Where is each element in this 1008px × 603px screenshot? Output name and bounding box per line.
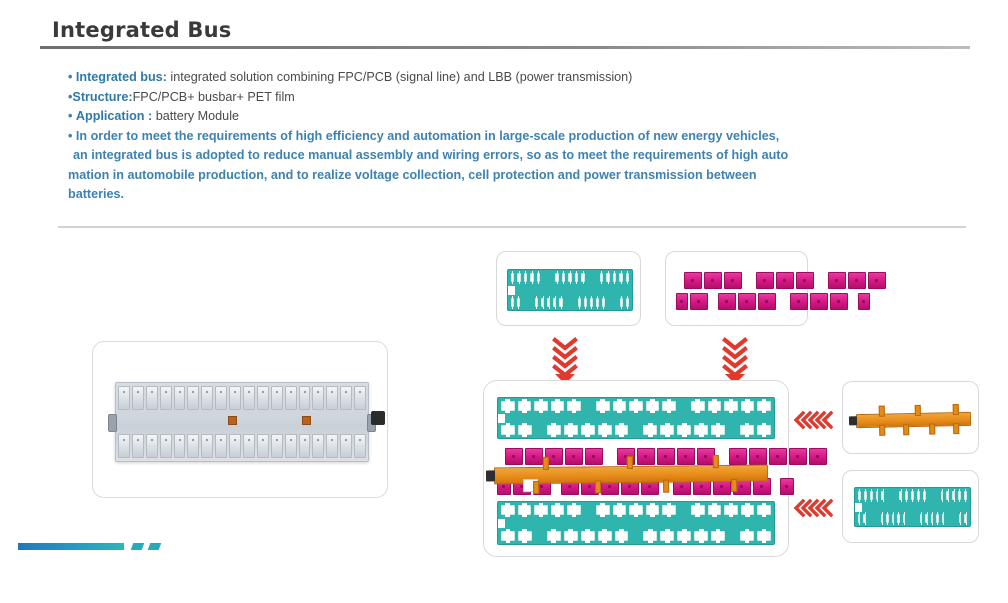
rail-post	[627, 456, 633, 469]
page-title: Integrated Bus	[52, 18, 964, 42]
fpc-tab-row-top	[858, 491, 967, 500]
photo-cell	[285, 386, 297, 410]
busbar-row-top	[505, 448, 827, 465]
photo-cell	[257, 434, 269, 458]
photo-cell	[354, 434, 366, 458]
bullet-marker-icon: •	[68, 109, 72, 123]
source-fpc-card	[496, 251, 641, 326]
paragraph-line-2: an integrated bus is adopted to reduce m…	[68, 146, 976, 166]
bullet-text-integrated-bus: integrated solution combining FPC/PCB (s…	[170, 70, 632, 84]
photo-cell	[285, 434, 297, 458]
photo-cell	[257, 386, 269, 410]
integrated-bus-photo-card	[92, 341, 388, 498]
arrow-left-rail	[793, 410, 835, 430]
bullet-marker-icon: •	[68, 70, 72, 84]
photo-connector	[371, 411, 385, 425]
assembly-orange-rail	[494, 465, 768, 485]
source-busbar-card	[665, 251, 808, 326]
fpc-tab-row-top	[501, 505, 771, 515]
chevron-down-icon	[552, 336, 578, 384]
footer-decoration	[18, 541, 163, 553]
fpc-tab-row-bottom	[511, 298, 629, 307]
busbar-row-bottom	[676, 293, 870, 310]
rail-post	[903, 424, 909, 435]
paragraph-line-4: batteries.	[68, 185, 976, 205]
rail-component	[856, 412, 971, 428]
rail-end-cap	[849, 416, 857, 425]
bullet-item-application: • Application : battery Module	[68, 107, 968, 127]
bullet-item-structure: •Structure:FPC/PCB+ busbar+ PET film	[68, 88, 968, 108]
title-underline-rule	[40, 46, 970, 49]
photo-end-tab-left	[108, 414, 117, 432]
decor-dash-1	[131, 543, 145, 550]
photo-cell	[354, 386, 366, 410]
photo-cell	[215, 434, 227, 458]
photo-cell	[312, 434, 324, 458]
photo-cell	[229, 434, 241, 458]
fpc-notch	[498, 414, 505, 423]
fpc-notch	[498, 519, 505, 528]
rail-post	[915, 405, 921, 416]
rail-end-cap	[486, 470, 495, 481]
photo-cell	[271, 386, 283, 410]
photo-cell	[215, 386, 227, 410]
rail-post	[879, 425, 885, 436]
bullet-text-structure: FPC/PCB+ busbar+ PET film	[133, 90, 295, 104]
photo-cell	[160, 434, 172, 458]
assembly-fpc-top	[497, 397, 775, 439]
fpc-notch	[508, 286, 515, 295]
photo-cell	[229, 386, 241, 410]
title-block: Integrated Bus	[52, 18, 964, 42]
paragraph-line-1: • In order to meet the requirements of h…	[68, 127, 976, 147]
arrow-down-busbar	[722, 336, 748, 384]
photo-cell	[243, 434, 255, 458]
rail-card	[842, 381, 979, 454]
integrated-bus-product-photo	[115, 382, 369, 462]
rail-post	[879, 406, 885, 417]
chevron-left-icon	[793, 498, 835, 518]
photo-cell	[146, 386, 158, 410]
bullet-label-structure: Structure:	[72, 90, 132, 104]
photo-cell	[187, 434, 199, 458]
bullet-list: • Integrated bus: integrated solution co…	[68, 68, 968, 205]
photo-cell	[187, 386, 199, 410]
assembly-fpc-bottom	[497, 501, 775, 545]
photo-copper-pad	[228, 416, 237, 425]
photo-copper-pad	[302, 416, 311, 425]
photo-cell	[299, 434, 311, 458]
photo-cell	[312, 386, 324, 410]
photo-cell	[174, 434, 186, 458]
rail-post	[533, 481, 539, 494]
arrow-left-fpc	[793, 498, 835, 518]
photo-cell-row-bottom	[118, 434, 366, 458]
photo-cell	[146, 434, 158, 458]
bullet-label-integrated-bus: Integrated bus:	[76, 70, 167, 84]
arrow-down-fpc	[552, 336, 578, 384]
photo-cell	[340, 386, 352, 410]
photo-cell	[299, 386, 311, 410]
photo-cell	[174, 386, 186, 410]
photo-cell	[326, 386, 338, 410]
rail-post	[929, 424, 935, 435]
fpc-tab-row-top	[511, 273, 629, 282]
fpc-component	[854, 487, 971, 527]
fpc-tab-row-bottom	[501, 531, 771, 541]
photo-cell	[326, 434, 338, 458]
rail-post	[731, 479, 737, 492]
paragraph-line-3: mation in automobile production, and to …	[68, 166, 976, 186]
rail-post	[663, 480, 669, 493]
photo-cell	[160, 386, 172, 410]
fpc-strip	[507, 269, 633, 311]
photo-cell	[271, 434, 283, 458]
photo-cell	[340, 434, 352, 458]
bullet-label-application: Application :	[76, 109, 152, 123]
photo-cell	[118, 434, 130, 458]
assembly-card	[483, 380, 789, 557]
fpc-tab-row-bottom	[858, 514, 967, 523]
chevron-left-icon	[793, 410, 835, 430]
photo-cell	[201, 386, 213, 410]
fpc-card	[842, 470, 979, 543]
decor-dash-2	[148, 543, 162, 550]
fpc-tab-row-top	[501, 401, 771, 411]
photo-cell	[118, 386, 130, 410]
photo-cell	[132, 434, 144, 458]
fpc-tab-row-bottom	[501, 425, 771, 435]
photo-cell-row-top	[118, 386, 366, 410]
rail-post	[713, 455, 719, 468]
photo-cell	[201, 434, 213, 458]
photo-cell	[243, 386, 255, 410]
content-divider-rule	[58, 226, 966, 228]
decor-gradient-bar	[18, 543, 124, 550]
busbar-row-top	[684, 272, 886, 289]
paragraph-block: • In order to meet the requirements of h…	[68, 127, 976, 205]
rail-post	[543, 457, 549, 470]
fpc-notch	[855, 503, 862, 512]
busbar-segments	[676, 269, 800, 313]
photo-cell	[132, 386, 144, 410]
bullet-item-integrated-bus: • Integrated bus: integrated solution co…	[68, 68, 968, 88]
rail-post	[953, 423, 959, 434]
rail-post	[595, 480, 601, 493]
rail-post	[953, 404, 959, 415]
bullet-text-application: battery Module	[156, 109, 239, 123]
chevron-down-icon	[722, 336, 748, 384]
